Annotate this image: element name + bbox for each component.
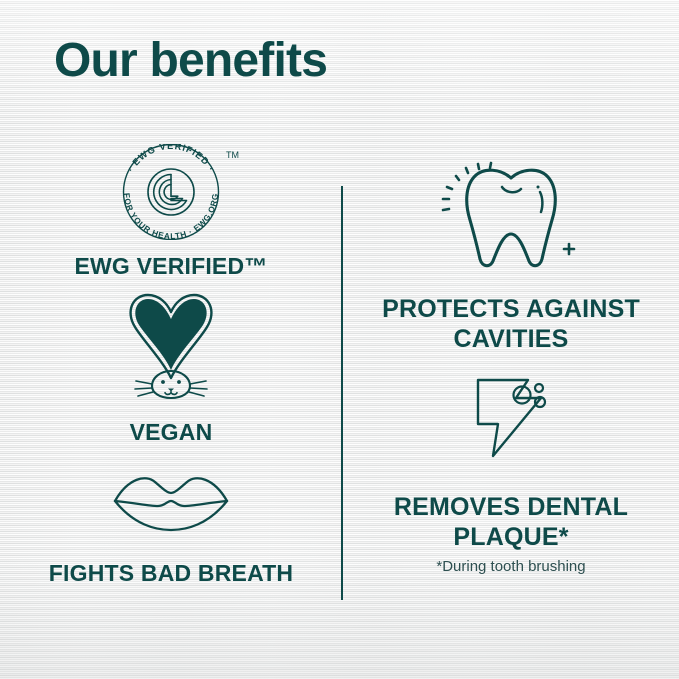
benefit-footnote-during-tooth-brushing: *During tooth brushing — [370, 557, 652, 577]
bunny-heart-icon — [36, 292, 306, 402]
benefit-label-protects-against-cavities: PROTECTS AGAINST CAVITIES — [370, 294, 652, 354]
benefit-label-ewg-verified: EWG VERIFIED™ — [36, 252, 306, 280]
benefit-label-removes-dental-plaque: REMOVES DENTAL PLAQUE* — [370, 492, 652, 552]
svg-text:· FOR YOUR HEALTH · EWG.ORG ·: · FOR YOUR HEALTH · EWG.ORG · — [36, 144, 220, 240]
lightning-bolt-bubbles-icon — [370, 368, 652, 464]
ewg-verified-seal-icon: · EWG VERIFIED · · FOR YOUR HEALTH · EWG… — [36, 144, 306, 240]
page-title: Our benefits — [54, 33, 327, 89]
svg-text:TM: TM — [226, 150, 239, 160]
benefit-item-ewg-verified: · EWG VERIFIED · · FOR YOUR HEALTH · EWG… — [36, 144, 306, 280]
benefit-item-fights-bad-breath: FIGHTS BAD BREATH — [36, 470, 306, 588]
sparkling-tooth-icon — [370, 160, 652, 272]
benefits-infographic: Our benefits · EWG VERIFIED · — [0, 0, 679, 679]
benefit-item-removes-dental-plaque: REMOVES DENTAL PLAQUE* *During tooth bru… — [370, 368, 652, 577]
column-divider — [341, 186, 343, 600]
benefit-label-vegan: VEGAN — [36, 418, 306, 446]
benefit-label-fights-bad-breath: FIGHTS BAD BREATH — [36, 558, 306, 588]
benefit-item-protects-against-cavities: PROTECTS AGAINST CAVITIES — [370, 160, 652, 354]
lips-icon — [36, 470, 306, 532]
benefit-item-vegan: VEGAN — [36, 292, 306, 446]
